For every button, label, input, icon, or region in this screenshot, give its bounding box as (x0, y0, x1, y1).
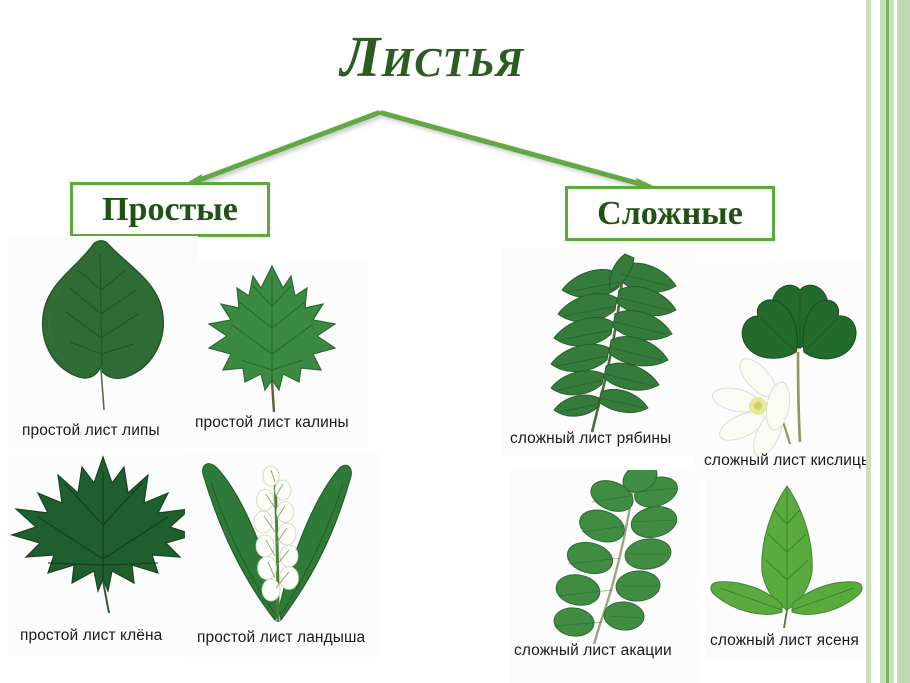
arrow-to-compound (382, 113, 662, 196)
leaf-card-linden[interactable]: простой лист липы (8, 236, 198, 448)
linden-leaf-icon (26, 238, 186, 413)
leaf-caption: простой лист клёна (20, 627, 162, 645)
leaf-caption: сложный лист ясеня (710, 632, 859, 650)
leaf-caption: сложный лист акации (514, 642, 672, 660)
leaf-caption: сложный лист кислицы (704, 452, 872, 470)
border-stripe (897, 0, 910, 683)
rowan-leaf-icon (518, 250, 686, 436)
leaf-card-acacia[interactable]: сложный лист акации (510, 470, 700, 683)
border-stripe (871, 0, 880, 683)
maple-leaf-icon (8, 455, 198, 615)
sorrel-flower (710, 353, 793, 461)
category-box-compound[interactable]: Сложные (565, 186, 775, 241)
ash-leaf-icon (708, 480, 864, 630)
lily-of-the-valley-icon (191, 452, 366, 632)
leaf-caption: сложный лист рябины (510, 430, 671, 448)
decorative-right-border (864, 0, 910, 683)
leaf-card-lily[interactable]: простой лист ландыша (185, 452, 381, 657)
viburnum-leaf-icon (195, 262, 350, 417)
acacia-leaf-icon (530, 470, 690, 645)
leaf-caption: простой лист калины (195, 414, 349, 432)
leaf-card-ash[interactable]: сложный лист ясеня (706, 480, 870, 660)
leaf-card-maple[interactable]: простой лист клёна (8, 455, 198, 655)
category-box-simple[interactable]: Простые (70, 182, 270, 237)
slide: Листья Простые Сложные (0, 0, 910, 683)
leaf-caption: простой лист ландыша (197, 629, 365, 647)
arrow-to-simple (176, 113, 378, 192)
leaf-caption: простой лист липы (22, 422, 160, 440)
wood-sorrel-icon (716, 266, 866, 456)
leaf-card-viburnum[interactable]: простой лист калины (185, 262, 367, 448)
leaf-card-rowan[interactable]: сложный лист рябины (502, 248, 698, 456)
leaf-card-sorrel[interactable]: сложный лист кислицы (694, 262, 880, 480)
